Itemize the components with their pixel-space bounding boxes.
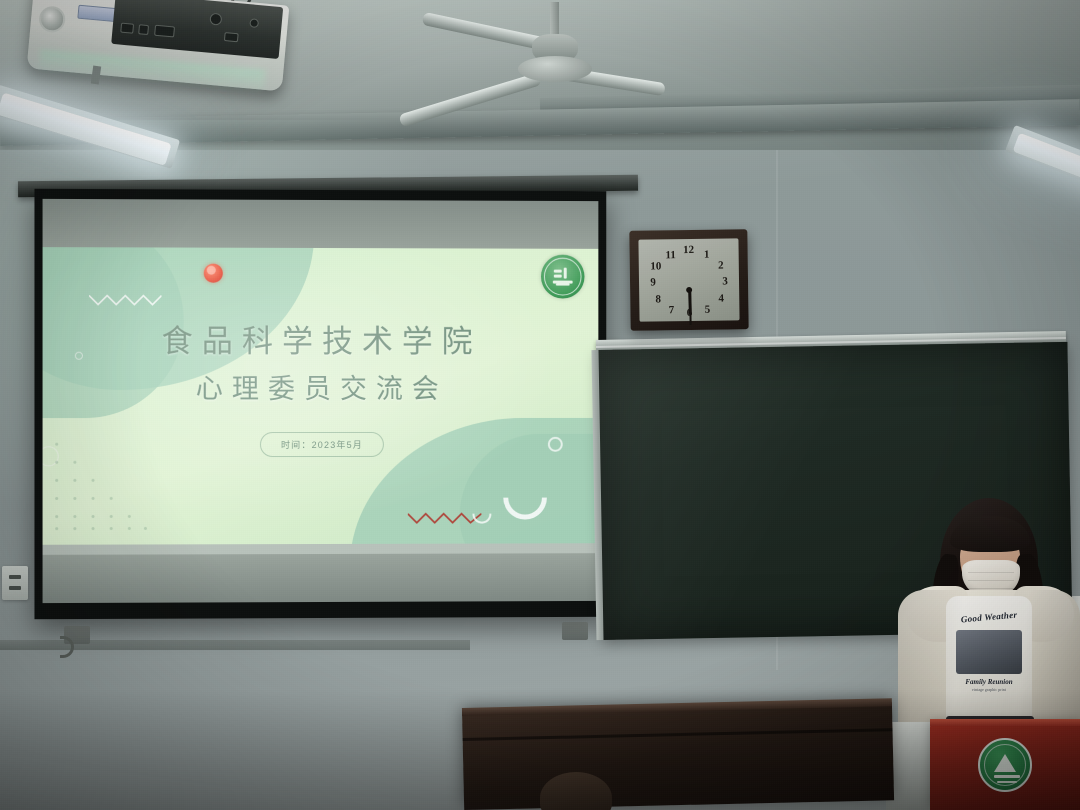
clock-numeral: 4: [715, 293, 727, 304]
teacher-desk-foreground: [462, 702, 894, 810]
university-emblem: [978, 738, 1032, 792]
screen-surface: 食品科学技术学院 心理委员交流会 时间：2023年5月: [43, 199, 599, 603]
projector-lens: [38, 5, 66, 33]
projector-port-panel: [111, 0, 283, 59]
wall-clock: 12 1 2 3 4 5 6 7 8 9 10 11: [629, 229, 748, 331]
projector-port-audio: [209, 13, 222, 26]
emblem-ring: [984, 744, 1026, 786]
presentation-slide[interactable]: 食品科学技术学院 心理委员交流会 时间：2023年5月: [43, 247, 599, 545]
clock-numeral: 11: [665, 250, 677, 261]
clock-numeral: 1: [701, 250, 713, 261]
logo-emblem: [552, 268, 574, 286]
screen-bracket-right: [562, 622, 588, 640]
emblem-base-bar: [994, 775, 1020, 778]
clock-numeral: 10: [650, 261, 662, 272]
wall-power-outlet[interactable]: [2, 566, 28, 600]
ceiling-fan: [430, 6, 680, 116]
desk-front-seam: [463, 728, 893, 741]
fan-downrod: [550, 2, 559, 36]
slide-subtitle: 心理委员交流会: [43, 367, 599, 406]
projection-screen[interactable]: 食品科学技术学院 心理委员交流会 时间：2023年5月: [34, 189, 606, 619]
clock-hour-hand: [688, 291, 692, 315]
emblem-base-bar-lower: [997, 781, 1017, 784]
fan-hub: [518, 56, 592, 82]
podium-top-edge: [930, 719, 1080, 726]
slide-text-block: 食品科学技术学院 心理委员交流会 时间：2023年5月: [43, 322, 599, 458]
slide-date-badge: 时间：2023年5月: [260, 432, 384, 457]
clock-numeral: 3: [719, 276, 731, 287]
projector-port-usb: [138, 24, 149, 35]
college-seal-logo: [541, 255, 585, 299]
projector-port-hdmi: [224, 32, 239, 42]
clock-face: 12 1 2 3 4 5 6 7 8 9 10 11: [638, 238, 739, 321]
clock-numeral: 2: [715, 260, 727, 271]
zigzag-bottom-right-icon: [408, 511, 482, 524]
clock-numeral: 5: [701, 305, 713, 316]
slide-title: 食品科学技术学院: [43, 322, 599, 364]
clock-numeral: 8: [652, 294, 664, 305]
lectern: [930, 724, 1080, 810]
screen-band-top: [43, 199, 599, 249]
clock-center-pin: [686, 287, 692, 293]
projector-port-lan: [120, 23, 134, 34]
screen-band-bottom: [43, 553, 599, 603]
zigzag-top-left-icon: [89, 293, 162, 305]
clock-numeral: 7: [665, 305, 677, 316]
clock-numeral: 12: [683, 245, 695, 256]
clock-numeral: 9: [647, 277, 659, 288]
projector-port-vga: [154, 25, 175, 38]
projector-port-power: [249, 18, 259, 28]
classroom-photo-scene: 食品科学技术学院 心理委员交流会 时间：2023年5月 12 1 2 3 4 5…: [0, 0, 1080, 810]
coral-dot-icon: [204, 264, 223, 283]
